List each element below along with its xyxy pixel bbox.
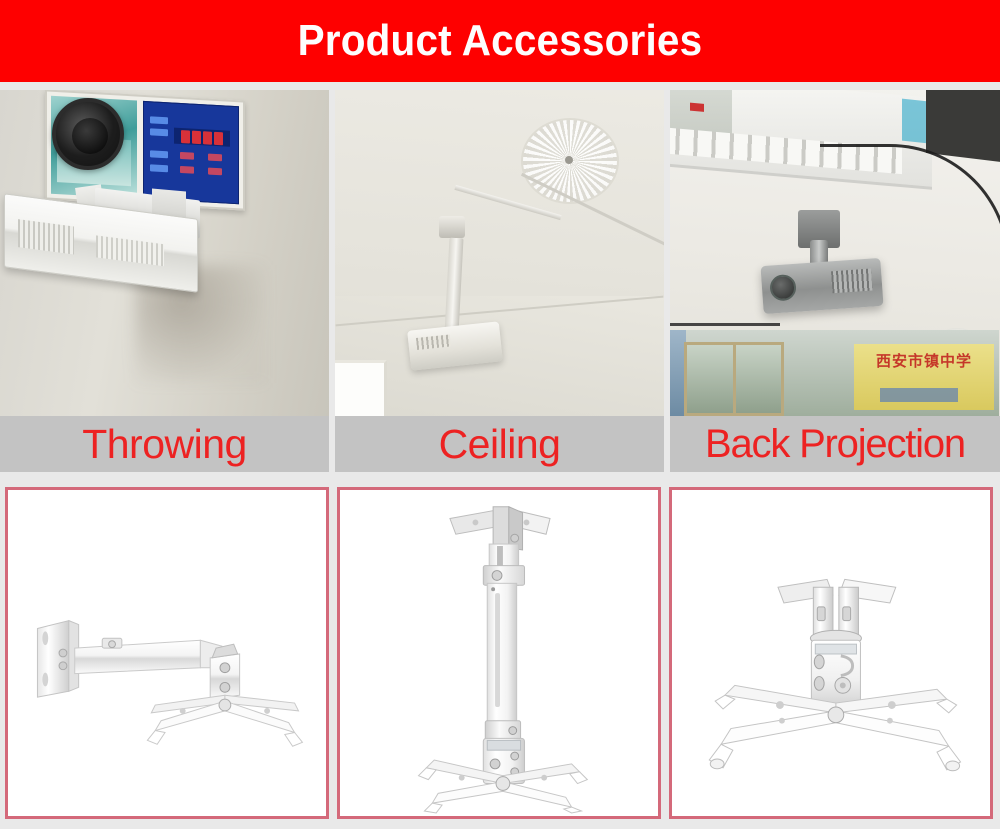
label-cell-ceiling: Ceiling: [335, 416, 664, 472]
projector-lens: [769, 274, 797, 302]
led-digits: [174, 128, 230, 147]
ceiling-vent-fan: [521, 118, 619, 204]
photo-throwing: [0, 90, 329, 416]
banner-text: 西安市镇中学: [876, 350, 972, 371]
photo-ceiling: [335, 90, 664, 416]
photo-back-projection: 西安市镇中学: [670, 90, 1000, 416]
ceiling-beam: [926, 90, 1000, 163]
label-back-projection: Back Projection: [705, 424, 965, 464]
label-throwing: Throwing: [82, 424, 247, 465]
header-banner: Product Accessories: [0, 0, 1000, 82]
window-frame: [335, 360, 387, 416]
ceiling-drop-pole-illustration: [340, 490, 658, 816]
page-title: Product Accessories: [298, 19, 703, 63]
label-cell-throwing: Throwing: [0, 416, 329, 472]
classroom-door: [684, 342, 784, 416]
universal-spider-illustration: [672, 490, 990, 816]
panel-ceiling-drop-pole: [337, 487, 661, 819]
panel-wall-mount: [5, 487, 329, 819]
label-cell-back-projection: Back Projection: [670, 416, 1000, 472]
panel-universal-spider: [669, 487, 993, 819]
ac-accent: [902, 99, 928, 144]
projector-body: [760, 258, 883, 314]
application-label-row: Throwing Ceiling Back Projection: [0, 416, 1000, 472]
wall-mount-illustration: [8, 490, 326, 816]
classroom-banner: 西安市镇中学: [854, 344, 994, 410]
label-ceiling: Ceiling: [439, 424, 561, 465]
product-panel-row: [5, 487, 995, 819]
rod-joint: [439, 216, 465, 238]
projector-lens: [52, 98, 124, 170]
product-accessories-infographic: Product Accessories: [0, 0, 1000, 829]
application-photo-row: 西安市镇中学: [0, 90, 1000, 416]
